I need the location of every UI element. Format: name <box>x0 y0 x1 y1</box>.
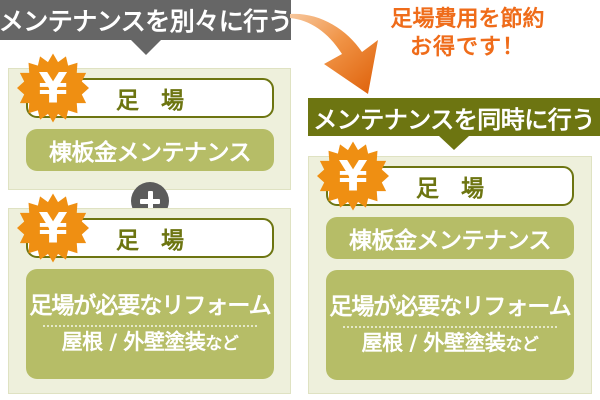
left-panel-b-reform-line2-suffix: など <box>205 334 238 354</box>
right-panel-reform-line2-main: 屋根 / 外壁塗装 <box>362 331 506 355</box>
svg-text:¥: ¥ <box>338 151 367 200</box>
yen-starburst-icon: ¥ <box>17 192 89 264</box>
left-column-header-label: メンテナンスを別々に行う <box>0 2 292 38</box>
right-panel-item-ridge-maintenance-label: 棟板金メンテナンス <box>349 221 551 255</box>
infographic-canvas: メンテナンスを別々に行う 足 場 棟板金メンテナンス ¥ 足 場 足場が必要なリ… <box>0 0 600 400</box>
dotted-divider <box>343 326 556 328</box>
promo-line-2: お得です！ <box>360 34 575 62</box>
right-panel-item-ridge-maintenance: 棟板金メンテナンス <box>326 217 574 259</box>
left-panel-b-reform-line1: 足場が必要なリフォーム <box>29 294 270 319</box>
right-column-header-banner: メンテナンスを同時に行う <box>308 98 600 136</box>
promo-line-1: 足場費用を節約 <box>360 6 575 34</box>
right-panel-item-scaffold-label: 足 場 <box>409 169 491 203</box>
right-panel-reform-line1: 足場が必要なリフォーム <box>329 295 570 320</box>
svg-text:¥: ¥ <box>38 203 67 252</box>
svg-text:¥: ¥ <box>38 63 67 112</box>
right-panel-reform-line2: 屋根 / 外壁塗装など <box>362 332 539 355</box>
right-panel-item-reform-stack: 足場が必要なリフォーム 屋根 / 外壁塗装など <box>326 270 574 380</box>
left-panel-a-item-ridge-maintenance-label: 棟板金メンテナンス <box>49 133 251 167</box>
dotted-divider <box>43 325 256 327</box>
yen-starburst-icon: ¥ <box>17 52 89 124</box>
left-panel-a-item-ridge-maintenance: 棟板金メンテナンス <box>26 129 274 171</box>
banner-notch-triangle-icon <box>131 40 161 55</box>
right-panel-reform-line2-suffix: など <box>505 335 538 355</box>
left-panel-b-item-scaffold-label: 足 場 <box>109 221 191 255</box>
banner-notch-triangle-icon <box>439 136 469 150</box>
right-column-header-label: メンテナンスを同時に行う <box>313 100 595 135</box>
left-panel-a-item-scaffold-label: 足 場 <box>109 81 191 115</box>
left-panel-b-item-reform-stack: 足場が必要なリフォーム 屋根 / 外壁塗装など <box>26 269 274 379</box>
left-panel-b-reform-line2-main: 屋根 / 外壁塗装 <box>62 330 206 354</box>
yen-starburst-icon: ¥ <box>317 140 389 212</box>
left-panel-b-reform-line2: 屋根 / 外壁塗装など <box>62 331 239 354</box>
promo-savings-text: 足場費用を節約 お得です！ <box>360 6 575 61</box>
left-column-header-banner: メンテナンスを別々に行う <box>0 0 291 40</box>
